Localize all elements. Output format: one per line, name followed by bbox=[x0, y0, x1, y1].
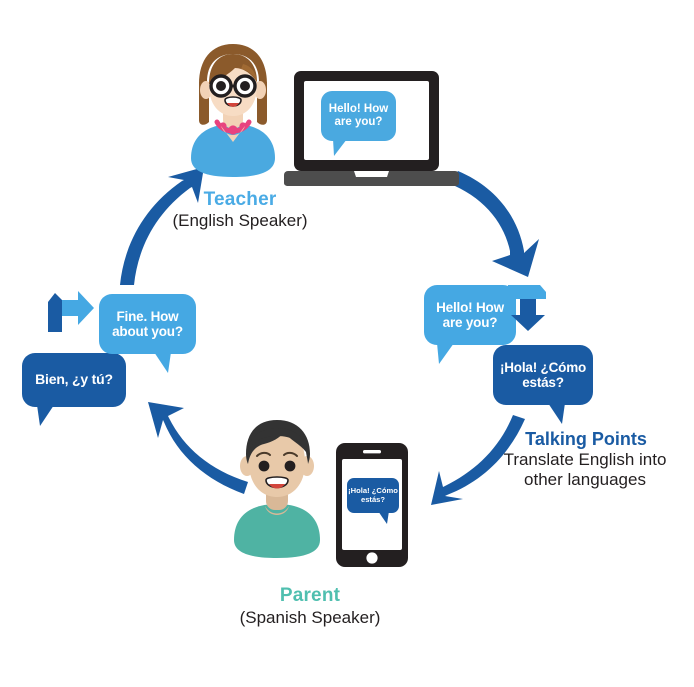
bubble-english-translated-line2: about you? bbox=[112, 324, 183, 339]
translate-right-arrow-icon bbox=[46, 286, 96, 336]
laptop-bubble-line1: Hello! How bbox=[329, 103, 388, 115]
bubble-english-translated-tail bbox=[154, 352, 176, 374]
bubble-spanish-source-tail bbox=[37, 405, 59, 427]
bubble-english-translated-line1: Fine. How bbox=[117, 309, 179, 324]
diagram-canvas: Hello! How are you? Teacher (English Spe… bbox=[0, 0, 694, 687]
phone-speech-bubble: ¡Hola! ¿Cómo estás? bbox=[347, 478, 399, 513]
laptop-speech-bubble: Hello! How are you? bbox=[321, 91, 396, 141]
translate-down-arrow-icon bbox=[508, 285, 556, 333]
phone-bubble-line2: estás? bbox=[361, 495, 385, 504]
bubble-english-source-line2: are you? bbox=[443, 315, 498, 330]
phone-bubble-tail bbox=[378, 511, 392, 525]
laptop-bubble-tail bbox=[333, 139, 351, 157]
bubble-english-translated: Fine. How about you? bbox=[99, 294, 196, 354]
talking-points-description-line1: Translate English into bbox=[476, 450, 694, 470]
teacher-avatar bbox=[183, 42, 283, 177]
bubble-english-source: Hello! How are you? bbox=[424, 285, 516, 345]
laptop-bubble-line2: are you? bbox=[335, 116, 383, 128]
parent-subtitle-label: (Spanish Speaker) bbox=[180, 608, 440, 628]
bubble-english-source-tail bbox=[437, 343, 459, 365]
talking-points-title: Talking Points bbox=[496, 429, 676, 450]
teacher-name-label: Teacher bbox=[115, 189, 365, 211]
bubble-spanish-source-line1: Bien, ¿y tú? bbox=[35, 371, 113, 387]
parent-name-label: Parent bbox=[190, 585, 430, 607]
bubble-spanish-translated-tail bbox=[548, 403, 570, 425]
bubble-spanish-translated-line1: ¡Hola! ¿Cómo bbox=[500, 360, 586, 375]
talking-points-description-line2: other languages bbox=[476, 470, 694, 490]
bubble-english-source-line1: Hello! How bbox=[436, 300, 504, 315]
bubble-spanish-translated: ¡Hola! ¿Cómo estás? bbox=[493, 345, 593, 405]
bubble-spanish-source: Bien, ¿y tú? bbox=[22, 353, 126, 407]
parent-avatar bbox=[222, 418, 332, 558]
bubble-spanish-translated-line2: estás? bbox=[522, 375, 564, 390]
teacher-subtitle-label: (English Speaker) bbox=[105, 211, 375, 231]
